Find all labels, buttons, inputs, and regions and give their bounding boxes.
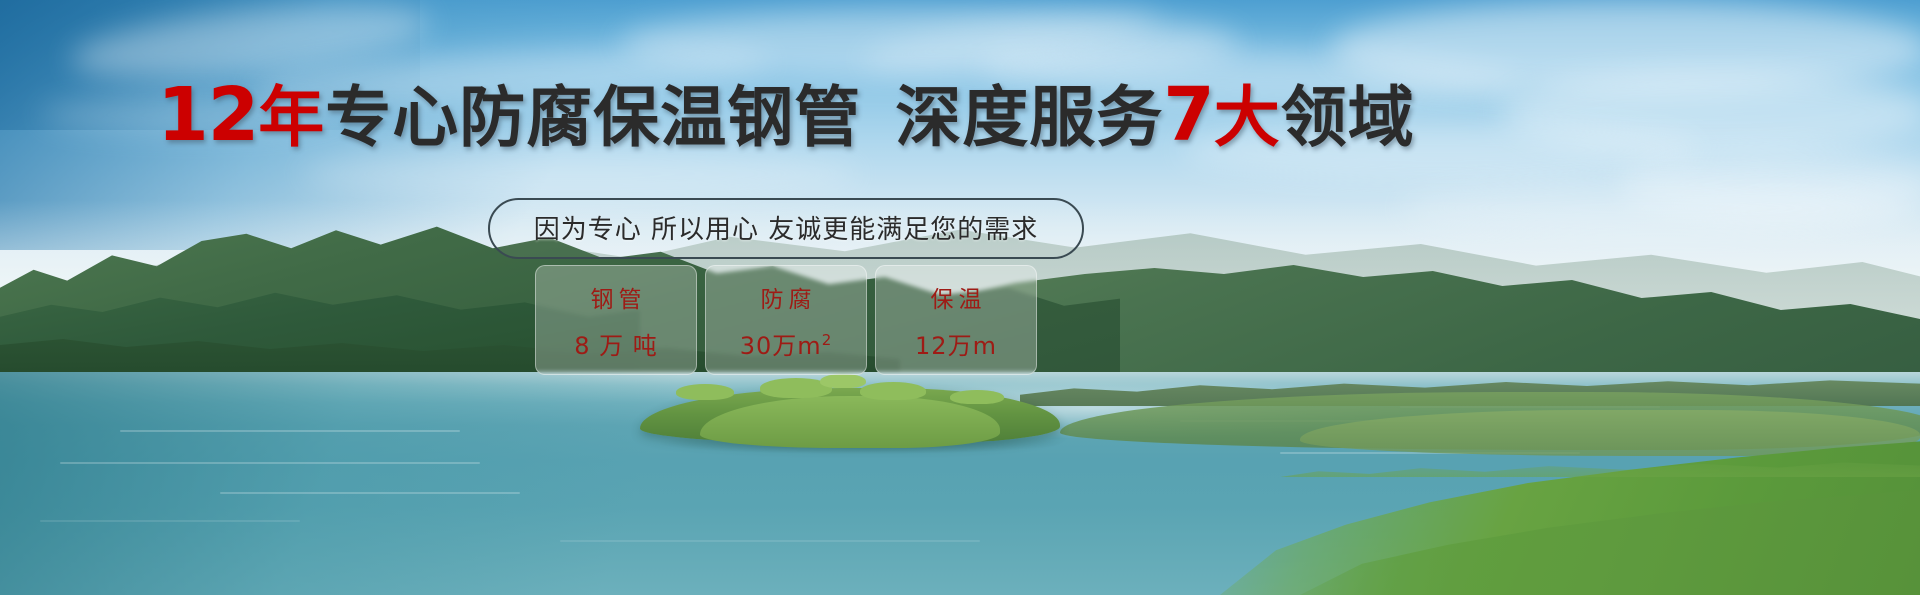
stat-label: 钢管 (586, 280, 647, 314)
banner-subtitle-wrap: 因为专心 所以用心 友诚更能满足您的需求 (0, 198, 1572, 259)
headline-fields-tail: 领域 (1281, 79, 1415, 156)
stat-value-text: 30万m (740, 332, 822, 360)
lake-shadow-left (0, 372, 720, 595)
headline-service-text: 深度服务 (895, 79, 1163, 156)
headline-main-text: 专心防腐保温钢管 (325, 79, 861, 156)
stat-label: 保温 (926, 280, 987, 314)
water-ripple (560, 540, 980, 542)
headline-years-unit: 年 (258, 79, 325, 156)
water-ripple (220, 492, 520, 494)
grass-tuft (676, 384, 734, 400)
water-ripple (60, 462, 480, 464)
grass-tuft (950, 390, 1004, 404)
water-ripple (40, 520, 300, 522)
hero-banner: 12年专心防腐保温钢管深度服务7大领域 因为专心 所以用心 友诚更能满足您的需求… (0, 0, 1920, 595)
headline-fields-number: 7 (1163, 72, 1214, 158)
cloud-shape (300, 150, 860, 198)
stat-value-text: 8 万 吨 (574, 332, 658, 360)
stat-box-steel-pipe: 钢管 8 万 吨 (535, 265, 697, 375)
stat-box-anticorrosion: 防腐 30万m2 (705, 265, 867, 375)
stat-value-text: 12万m (915, 332, 997, 360)
stat-label: 防腐 (756, 280, 817, 314)
water-ripple (120, 430, 460, 432)
headline-fields-big: 大 (1214, 79, 1281, 156)
stat-value: 30万m2 (740, 326, 832, 361)
stat-value: 12万m (915, 326, 997, 361)
grass-tuft (820, 374, 866, 388)
banner-subtitle-pill: 因为专心 所以用心 友诚更能满足您的需求 (488, 198, 1085, 259)
stat-box-group: 钢管 8 万 吨 防腐 30万m2 保温 12万m (535, 265, 1037, 375)
stat-value: 8 万 吨 (574, 326, 658, 361)
stat-value-superscript: 2 (822, 331, 833, 349)
headline-years-number: 12 (157, 72, 258, 158)
stat-box-insulation: 保温 12万m (875, 265, 1037, 375)
banner-headline: 12年专心防腐保温钢管深度服务7大领域 (0, 78, 1572, 152)
grass-tuft (860, 382, 926, 400)
